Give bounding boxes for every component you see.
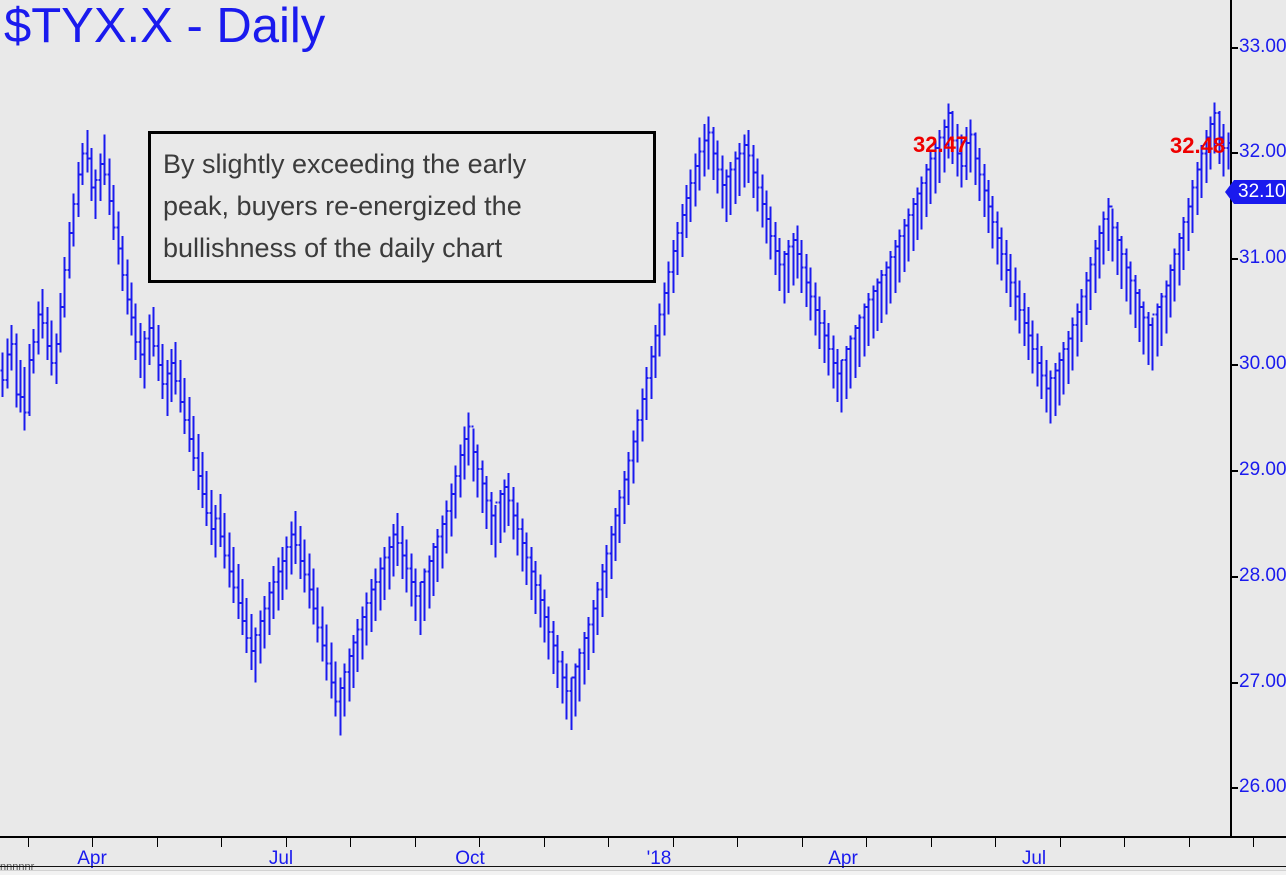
price-axis-tick-label: 26.00 bbox=[1239, 776, 1286, 798]
annotation-line-1: By slightly exceeding the early bbox=[163, 143, 641, 185]
date-axis-tick-mark bbox=[1253, 838, 1254, 847]
price-axis-tick-mark bbox=[1232, 47, 1238, 49]
current-price-badge: 32.10 bbox=[1234, 180, 1286, 204]
footer-rule bbox=[0, 866, 1286, 867]
date-axis-tick-mark bbox=[28, 838, 29, 847]
date-axis-tick-mark bbox=[1124, 838, 1125, 847]
date-axis-tick-mark bbox=[608, 838, 609, 847]
price-axis-tick-label: 27.00 bbox=[1239, 671, 1286, 693]
date-axis-tick-mark bbox=[673, 838, 674, 847]
price-axis-tick-mark bbox=[1232, 682, 1238, 684]
date-axis-tick-mark bbox=[350, 838, 351, 847]
price-axis-tick-mark bbox=[1232, 470, 1238, 472]
date-axis-tick-mark bbox=[866, 838, 867, 847]
date-axis-tick-mark bbox=[479, 838, 480, 847]
date-axis-tick-mark bbox=[931, 838, 932, 847]
price-axis-tick-label: 31.00 bbox=[1239, 247, 1286, 269]
price-axis-tick-label: 28.00 bbox=[1239, 565, 1286, 587]
price-axis-tick-mark bbox=[1232, 576, 1238, 578]
price-axis-tick-mark bbox=[1232, 364, 1238, 366]
date-axis-tick-mark bbox=[92, 838, 93, 847]
date-axis-tick-mark bbox=[221, 838, 222, 847]
chart-window: $TYX.X - Daily By slightly exceeding the… bbox=[0, 0, 1286, 875]
price-axis[interactable]: 32.10 33.0032.0031.0030.0029.0028.0027.0… bbox=[1230, 0, 1286, 836]
price-pointer-arrow bbox=[1225, 180, 1234, 204]
current-price-value: 32.10 bbox=[1238, 181, 1286, 202]
price-axis-tick-mark bbox=[1232, 152, 1238, 154]
date-axis-tick-mark bbox=[802, 838, 803, 847]
price-axis-tick-label: 30.00 bbox=[1239, 353, 1286, 375]
date-axis-tick-mark bbox=[157, 838, 158, 847]
price-axis-tick-label: 32.00 bbox=[1239, 141, 1286, 163]
price-axis-tick-mark bbox=[1232, 258, 1238, 260]
date-axis-tick-mark bbox=[1060, 838, 1061, 847]
date-axis-tick-mark bbox=[544, 838, 545, 847]
annotation-callout: By slightly exceeding the early peak, bu… bbox=[148, 131, 656, 283]
peak-price-label-left: 32.47 bbox=[913, 132, 968, 158]
footer-strip bbox=[0, 871, 1286, 875]
annotation-line-3: bullishness of the daily chart bbox=[163, 227, 641, 269]
peak-price-label-right: 32.48 bbox=[1170, 133, 1225, 159]
date-axis-tick-mark bbox=[737, 838, 738, 847]
price-axis-tick-mark bbox=[1232, 787, 1238, 789]
date-axis-tick-mark bbox=[286, 838, 287, 847]
footer-scrap-text: nnnnnr bbox=[0, 861, 130, 875]
date-axis-tick-mark bbox=[995, 838, 996, 847]
date-axis-tick-mark bbox=[415, 838, 416, 847]
price-axis-tick-label: 29.00 bbox=[1239, 459, 1286, 481]
price-plot-area bbox=[0, 0, 1230, 836]
date-axis[interactable]: AprJulOct'18AprJul bbox=[0, 836, 1286, 875]
date-axis-tick-mark bbox=[1189, 838, 1190, 847]
annotation-line-2: peak, buyers re-energized the bbox=[163, 185, 641, 227]
price-axis-tick-label: 33.00 bbox=[1239, 36, 1286, 58]
ohlc-bars-svg bbox=[0, 0, 1230, 836]
page-title: $TYX.X - Daily bbox=[4, 2, 325, 51]
